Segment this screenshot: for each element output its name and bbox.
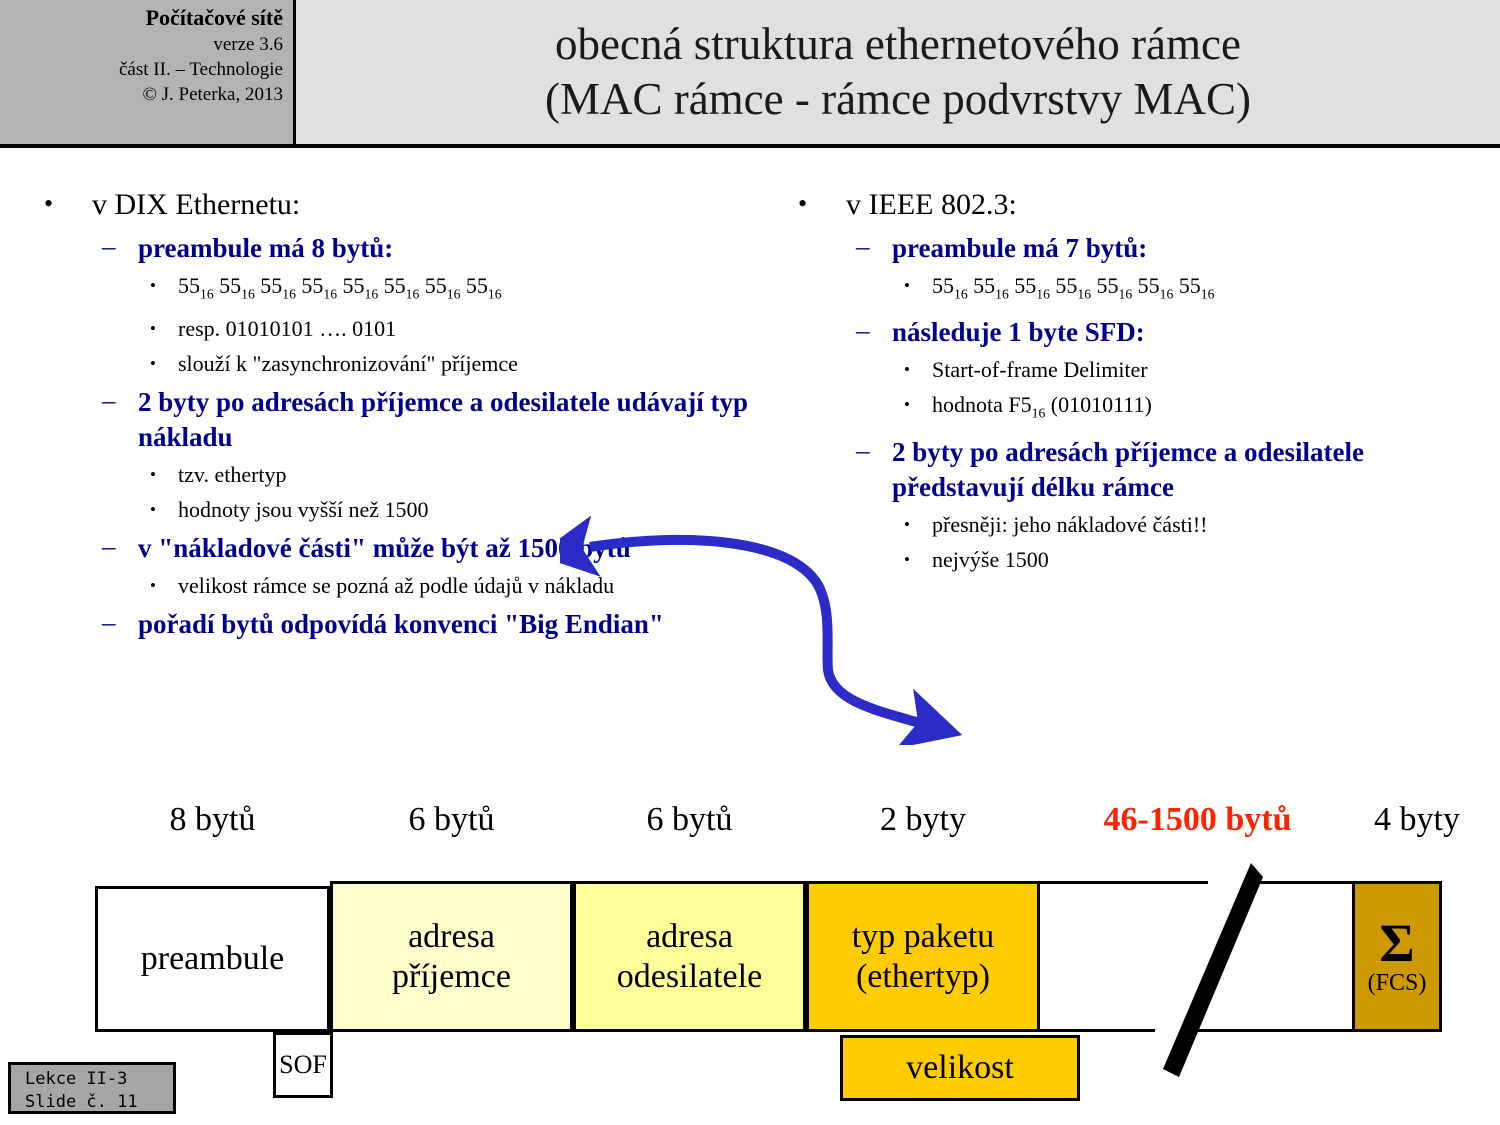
payload-box-bottom-left-edge [1040,1029,1155,1032]
slide-header: Počítačové sítě verze 3.6 část II. – Tec… [0,0,1500,148]
page-title: obecná struktura ethernetového rámce (MA… [296,0,1500,144]
right-subsublist: • 5516 5516 5516 5516 5516 5516 5516 [892,271,1482,309]
frame-field-label: typ paketu (ethertyp) [852,917,995,997]
list-item: – následuje 1 byte SFD: • Start-of-frame… [846,315,1482,428]
frame-field-label-line-1: adresa [646,918,733,955]
course-author: © J. Peterka, 2013 [4,82,283,107]
left-subsublist: • 5516 5516 5516 5516 5516 5516 5516 551… [138,271,788,379]
frame-field-label-line-2: příjemce [392,958,511,995]
dash-bullet-icon: – [856,229,870,264]
ethernet-frame-diagram: 8 bytů 6 bytů 6 bytů 2 byty 46-1500 bytů… [0,795,1500,1085]
slide-label: Slide č. 11 [25,1091,173,1114]
size-label-adresa-odesilatele: 6 bytů [573,801,806,839]
lecture-label: Lekce II-3 [25,1068,173,1091]
list-item-label: následuje 1 byte SFD: [892,317,1145,347]
bullet-dot-icon: • [150,571,156,601]
list-item-label: Start-of-frame Delimiter [932,357,1148,382]
list-item: – preambule má 7 bytů: • 5516 5516 5516 … [846,231,1482,309]
size-label-fcs: 4 byty [1352,801,1482,839]
frame-field-label: SOF [279,1045,327,1085]
list-item-label: preambule má 7 bytů: [892,233,1147,263]
left-heading-label: v DIX Ethernetu: [92,188,300,221]
list-item: – 2 byty po adresách příjemce a odesilat… [92,385,788,525]
list-item-label: 2 byty po adresách příjemce a odesilatel… [138,387,748,452]
bullet-dot-icon: • [44,184,53,224]
list-item-label: 5516 5516 5516 5516 5516 5516 5516 5516 [178,273,502,298]
list-item-label: tzv. ethertyp [178,462,287,487]
frame-field-fcs: Σ (FCS) [1352,881,1442,1032]
course-info-block: Počítačové sítě verze 3.6 část II. – Tec… [0,0,296,144]
list-item: • tzv. ethertyp [138,460,788,490]
sigma-icon: Σ [1379,917,1414,969]
frame-field-preambule: preambule [95,886,330,1032]
list-item-label: velikost rámce se pozná až podle údajů v… [178,573,614,598]
list-item: • slouží k "zasynchronizování" příjemce [138,349,788,379]
frame-field-adresa-prijemce: adresa příjemce [330,881,573,1032]
list-item-label: preambule má 8 bytů: [138,233,393,263]
blue-double-arrow-icon [560,515,980,745]
bullet-dot-icon: • [798,184,807,224]
bullet-dot-icon: • [904,271,910,301]
dash-bullet-icon: – [856,313,870,348]
course-part: část II. – Technologie [4,57,283,82]
frame-field-label: adresa příjemce [392,917,511,997]
dash-bullet-icon: – [102,529,116,564]
frame-field-label-line-2: odesilatele [617,958,762,995]
course-version: verze 3.6 [4,32,283,57]
list-item-label: v "nákladové části" může být až 1500 byt… [138,533,631,563]
list-item-label: resp. 01010101 …. 0101 [178,316,396,341]
bullet-dot-icon: • [150,460,156,490]
frame-field-sof: SOF [273,1032,333,1098]
bullet-dot-icon: • [150,495,156,525]
frame-field-typ-paketu: typ paketu (ethertyp) [806,881,1040,1032]
list-item-label: hodnota F516 (01010111) [932,392,1152,417]
list-item: • 5516 5516 5516 5516 5516 5516 5516 [892,271,1482,309]
list-item: • 5516 5516 5516 5516 5516 5516 5516 551… [138,271,788,309]
frame-field-label: adresa odesilatele [617,917,762,997]
frame-field-label: velikost [906,1048,1014,1088]
frame-field-label: preambule [141,939,285,979]
size-label-adresa-prijemce: 6 bytů [330,801,573,839]
list-item: – preambule má 8 bytů: • 5516 5516 5516 … [92,231,788,379]
bullet-dot-icon: • [904,355,910,385]
bullet-dot-icon: • [150,349,156,379]
course-title: Počítačové sítě [4,4,283,32]
bullet-dot-icon: • [904,390,910,420]
size-label-payload: 46-1500 bytů [1040,801,1355,839]
payload-break-slash-icon [1155,855,1275,1085]
list-item-label: slouží k "zasynchronizování" příjemce [178,351,518,376]
frame-field-label-line-1: adresa [408,918,495,955]
frame-field-adresa-odesilatele: adresa odesilatele [573,881,806,1032]
frame-field-label-line-1: typ paketu [852,918,995,955]
size-label-typ-paketu: 2 byty [806,801,1040,839]
list-item-label: 2 byty po adresách příjemce a odesilatel… [892,437,1364,502]
page-title-line-2: (MAC rámce - rámce podvrstvy MAC) [545,72,1251,127]
list-item: • resp. 01010101 …. 0101 [138,314,788,344]
frame-field-label-line-2: (ethertyp) [856,958,990,995]
bullet-dot-icon: • [150,314,156,344]
dash-bullet-icon: – [856,433,870,468]
slide-number-badge: Lekce II-3 Slide č. 11 [8,1062,176,1114]
frame-field-velikost: velikost [840,1035,1080,1101]
frame-field-label: (FCS) [1368,969,1427,997]
list-item: • Start-of-frame Delimiter [892,355,1482,385]
dash-bullet-icon: – [102,229,116,264]
bullet-dot-icon: • [150,271,156,301]
list-item-label: 5516 5516 5516 5516 5516 5516 5516 [932,273,1214,298]
page-title-line-1: obecná struktura ethernetového rámce [555,17,1241,72]
right-subsublist: • Start-of-frame Delimiter • hodnota F51… [892,355,1482,428]
right-heading-label: v IEEE 802.3: [846,188,1017,221]
list-item: • hodnota F516 (01010111) [892,390,1482,428]
list-item-label: hodnoty jsou vyšší než 1500 [178,497,429,522]
size-label-preambule: 8 bytů [95,801,330,839]
dash-bullet-icon: – [102,383,116,418]
dash-bullet-icon: – [102,605,116,640]
